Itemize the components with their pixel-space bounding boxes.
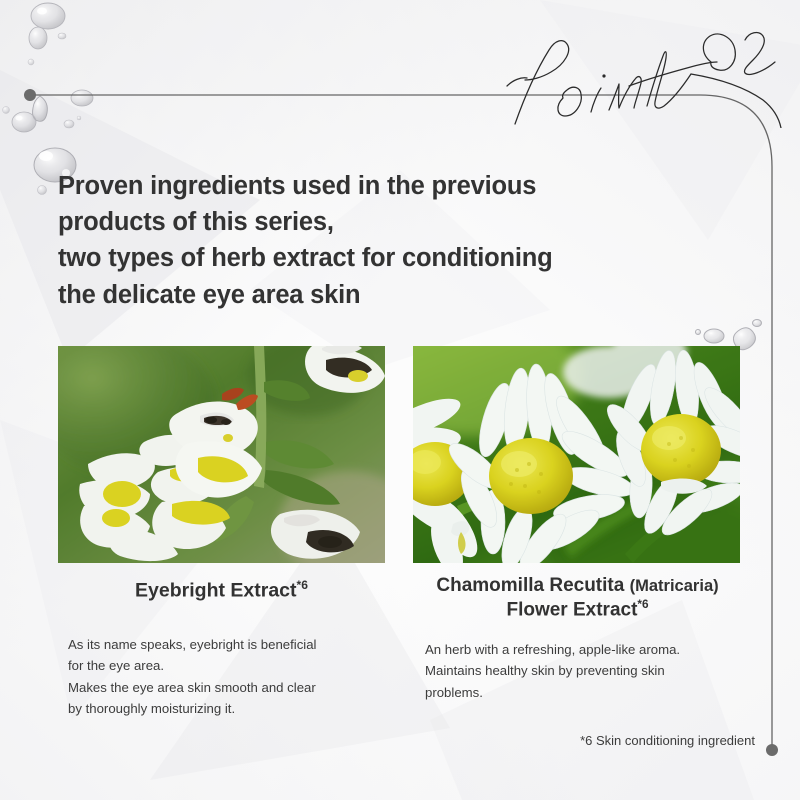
chamomile-caption-synonym: (Matricaria) bbox=[630, 576, 719, 595]
eyebright-desc-line-4: by thoroughly moisturizing it. bbox=[68, 698, 388, 719]
chamomile-desc-line-1: An herb with a refreshing, apple-like ar… bbox=[425, 639, 745, 660]
eyebright-desc-line-3: Makes the eye area skin smooth and clear bbox=[68, 677, 388, 698]
chamomile-caption: Chamomilla Recutita (Matricaria) Flower … bbox=[400, 574, 755, 621]
heading-line-3: two types of herb extract for conditioni… bbox=[58, 240, 718, 276]
chamomile-caption-part: Flower Extract bbox=[506, 599, 637, 620]
point-02-script-label bbox=[505, 28, 785, 128]
eyebright-desc-line-2: for the eye area. bbox=[68, 655, 388, 676]
chamomile-caption-line-1: Chamomilla Recutita (Matricaria) bbox=[400, 574, 755, 598]
page-heading: Proven ingredients used in the previous … bbox=[58, 168, 718, 313]
eyebright-caption: Eyebright Extract*6 bbox=[58, 578, 385, 603]
footnote: *6 Skin conditioning ingredient bbox=[430, 733, 755, 748]
infographic-page: Proven ingredients used in the previous … bbox=[0, 0, 800, 800]
heading-line-4: the delicate eye area skin bbox=[58, 277, 718, 313]
eyebright-caption-footnote-marker: *6 bbox=[297, 578, 308, 592]
chamomile-caption-genus: Chamomilla Recutita bbox=[436, 575, 624, 596]
chamomile-flower-photo bbox=[413, 346, 740, 563]
chamomile-description: An herb with a refreshing, apple-like ar… bbox=[425, 639, 745, 703]
heading-line-2: products of this series, bbox=[58, 204, 718, 240]
eyebright-flower-photo bbox=[58, 346, 385, 563]
eyebright-description: As its name speaks, eyebright is benefic… bbox=[68, 634, 388, 720]
eyebright-desc-line-1: As its name speaks, eyebright is benefic… bbox=[68, 634, 388, 655]
chamomile-caption-line-2: Flower Extract*6 bbox=[400, 598, 755, 622]
chamomile-caption-footnote-marker: *6 bbox=[637, 598, 648, 611]
chamomile-desc-line-3: problems. bbox=[425, 682, 745, 703]
heading-line-1: Proven ingredients used in the previous bbox=[58, 168, 718, 204]
eyebright-caption-text: Eyebright Extract bbox=[135, 580, 296, 602]
chamomile-desc-line-2: Maintains healthy skin by preventing ski… bbox=[425, 660, 745, 681]
